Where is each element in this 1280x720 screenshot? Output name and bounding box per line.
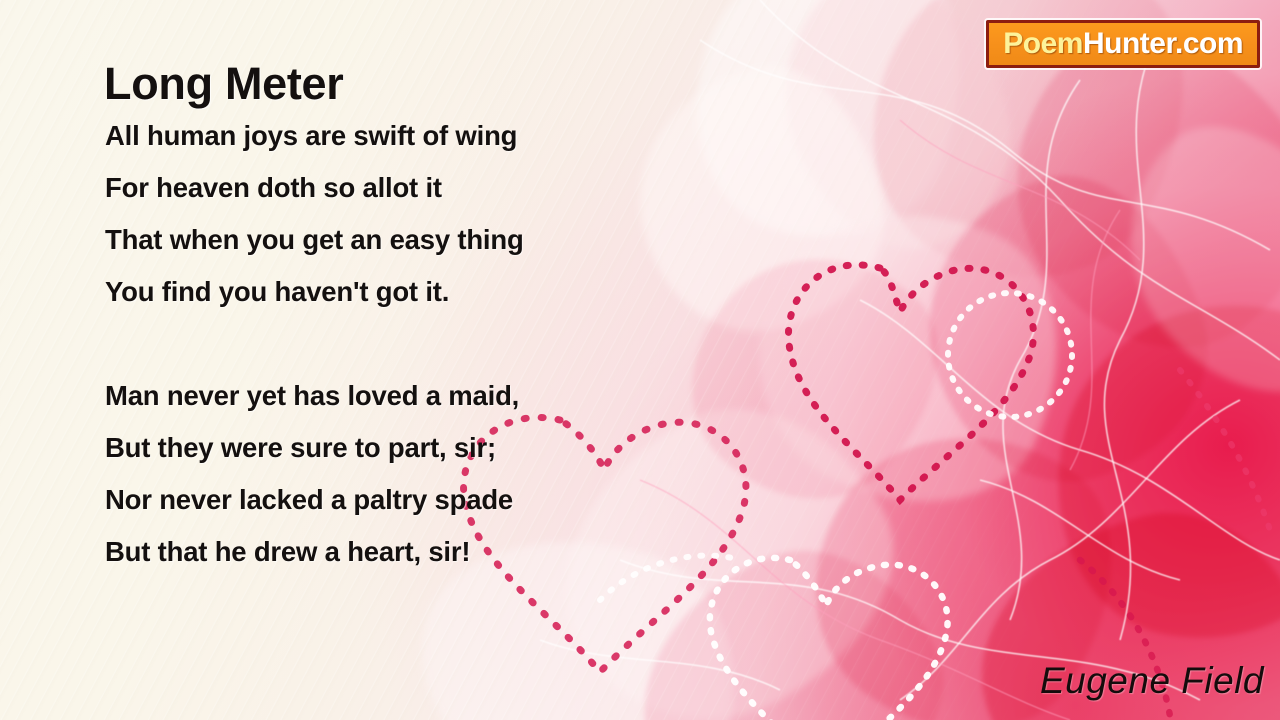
poem-line: That when you get an easy thing bbox=[105, 214, 745, 266]
poem-line: You find you haven't got it. bbox=[105, 266, 745, 318]
poemhunter-logo[interactable]: PoemHunter.com bbox=[986, 20, 1260, 68]
logo-brand-primary: Poem bbox=[1003, 27, 1083, 60]
poem-line: But that he drew a heart, sir! bbox=[105, 526, 745, 578]
poem-image-card: Long Meter All human joys are swift of w… bbox=[0, 0, 1280, 720]
page-title: Long Meter bbox=[104, 58, 344, 110]
poem-line: Nor never lacked a paltry spade bbox=[105, 474, 745, 526]
logo-brand-secondary: Hunter.com bbox=[1083, 27, 1243, 60]
poem-line: All human joys are swift of wing bbox=[105, 110, 745, 162]
poem-line: For heaven doth so allot it bbox=[105, 162, 745, 214]
poem-line: Man never yet has loved a maid, bbox=[105, 370, 745, 422]
poem-author: Eugene Field bbox=[1040, 660, 1264, 702]
poem-stanza-gap bbox=[105, 318, 745, 370]
poem-text: All human joys are swift of wing For hea… bbox=[105, 110, 745, 578]
poem-line: But they were sure to part, sir; bbox=[105, 422, 745, 474]
